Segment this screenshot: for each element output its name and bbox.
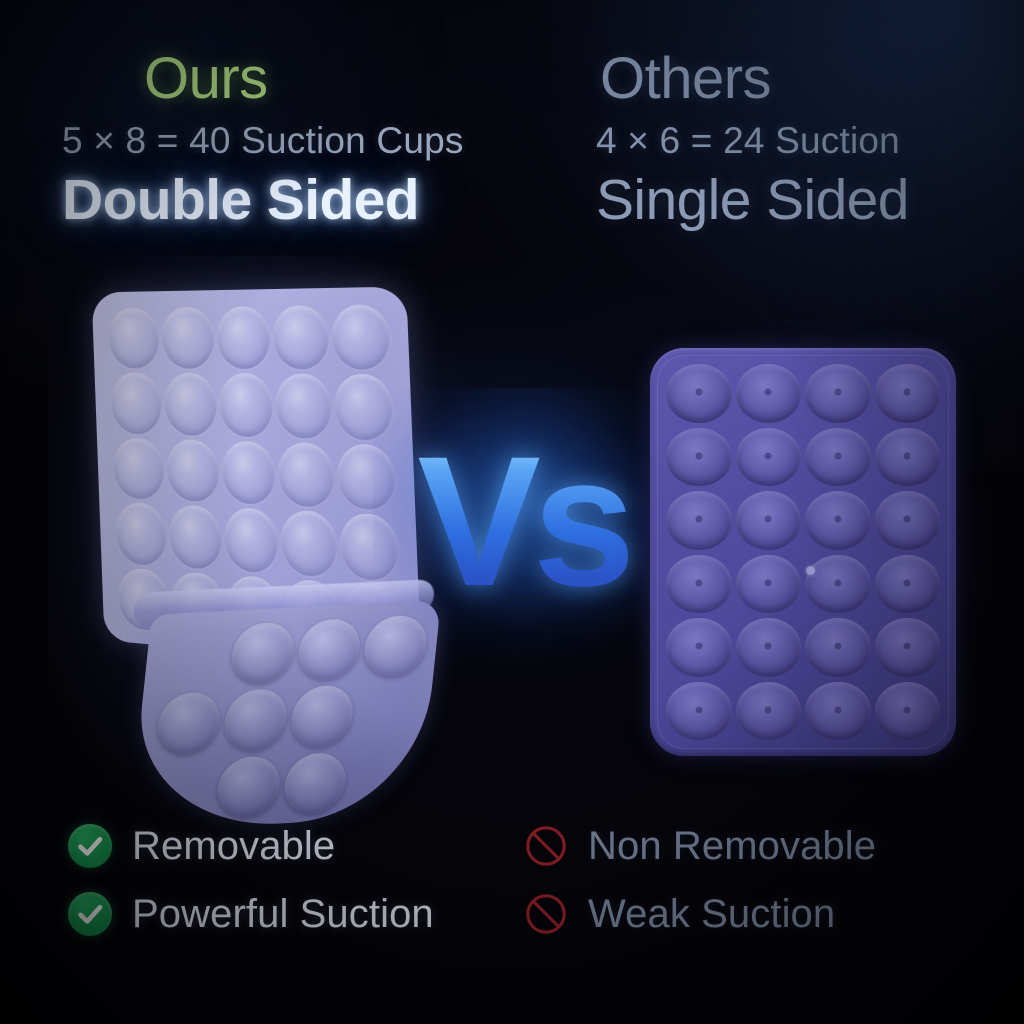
suction-cup xyxy=(278,442,336,508)
ours-feature-list: Removable Powerful Suction xyxy=(68,812,538,948)
suction-bump xyxy=(214,755,282,819)
prohibited-icon xyxy=(524,824,568,868)
suction-bump xyxy=(295,618,363,682)
suction-cup xyxy=(805,555,871,614)
suction-bump xyxy=(288,685,356,749)
suction-cup xyxy=(336,443,396,511)
others-pad-body xyxy=(650,348,956,756)
suction-cup xyxy=(805,428,871,487)
suction-cup xyxy=(875,491,941,550)
suction-cup xyxy=(666,555,732,614)
suction-cup xyxy=(331,304,391,370)
feature-row: Removable xyxy=(68,812,538,880)
versus-label: Vs xyxy=(417,434,627,612)
others-column-header: Others 4 × 6 = 24 Suction Single Sided xyxy=(596,50,1016,232)
ours-sided-label: Double Sided xyxy=(62,170,562,232)
suction-cup xyxy=(736,555,802,614)
suction-cup xyxy=(736,618,802,677)
others-suction-cup-grid xyxy=(666,364,940,740)
suction-cup xyxy=(805,491,871,550)
suction-cup xyxy=(272,305,330,370)
suction-cup xyxy=(666,682,732,741)
feature-label: Weak Suction xyxy=(588,892,835,937)
suction-cup xyxy=(110,373,162,435)
suction-cup xyxy=(875,618,941,677)
suction-cup xyxy=(334,374,394,440)
suction-cup xyxy=(163,373,217,436)
check-circle-icon xyxy=(68,892,112,936)
ours-pad-reverse-flap xyxy=(129,600,441,832)
suction-cup xyxy=(805,618,871,677)
suction-cup xyxy=(275,374,333,439)
suction-cup xyxy=(736,491,802,550)
feature-label: Powerful Suction xyxy=(132,892,434,937)
suction-cup xyxy=(223,507,279,573)
suction-cup xyxy=(805,682,871,741)
suction-cup xyxy=(112,437,164,500)
others-product-image xyxy=(650,348,956,756)
suction-bump xyxy=(281,751,349,815)
feature-row: Powerful Suction xyxy=(68,880,538,948)
feature-label: Non Removable xyxy=(588,824,876,869)
suction-cup xyxy=(115,502,168,566)
suction-cup xyxy=(161,307,215,369)
others-sided-label: Single Sided xyxy=(596,170,1016,232)
suction-bump xyxy=(228,621,296,685)
suction-bump xyxy=(221,688,289,752)
suction-cup xyxy=(875,428,941,487)
versus-badge: Vs xyxy=(410,415,635,630)
suction-cup xyxy=(108,307,160,368)
feature-label: Removable xyxy=(132,824,335,869)
ours-product-image xyxy=(88,286,448,806)
suction-cup xyxy=(218,373,274,437)
others-feature-list: Non Removable Weak Suction xyxy=(524,812,994,948)
suction-cup xyxy=(339,513,399,582)
suction-cup xyxy=(215,306,271,370)
prohibited-icon xyxy=(524,892,568,936)
others-center-vent-dot xyxy=(806,566,815,575)
suction-cup xyxy=(736,682,802,741)
comparison-infographic: Ours 5 × 8 = 40 Suction Cups Double Side… xyxy=(0,0,1024,1024)
ours-brand-title: Ours xyxy=(62,50,562,108)
ours-reverse-bump-grid xyxy=(148,614,430,822)
ours-cup-count-spec: 5 × 8 = 40 Suction Cups xyxy=(62,120,562,162)
suction-cup xyxy=(875,364,941,423)
ours-column-header: Ours 5 × 8 = 40 Suction Cups Double Side… xyxy=(62,50,562,232)
feature-comparison-area: Removable Powerful Suction xyxy=(0,812,1024,962)
suction-cup xyxy=(736,364,802,423)
suction-cup xyxy=(805,364,871,423)
feature-row: Non Removable xyxy=(524,812,994,880)
suction-cup xyxy=(666,428,732,487)
suction-cup xyxy=(221,440,277,505)
others-brand-title: Others xyxy=(596,50,1016,108)
suction-cup xyxy=(166,439,220,503)
heading-area: Ours 5 × 8 = 40 Suction Cups Double Side… xyxy=(0,0,1024,290)
others-cup-count-spec: 4 × 6 = 24 Suction xyxy=(596,120,1016,162)
suction-cup xyxy=(666,618,732,677)
suction-cup xyxy=(280,510,338,578)
check-circle-icon xyxy=(68,824,112,868)
suction-cup xyxy=(875,555,941,614)
suction-cup xyxy=(736,428,802,487)
suction-cup xyxy=(666,491,732,550)
suction-cup xyxy=(666,364,732,423)
suction-bump xyxy=(155,692,223,756)
suction-cup xyxy=(168,504,222,569)
suction-cup xyxy=(875,682,941,741)
feature-row: Weak Suction xyxy=(524,880,994,948)
